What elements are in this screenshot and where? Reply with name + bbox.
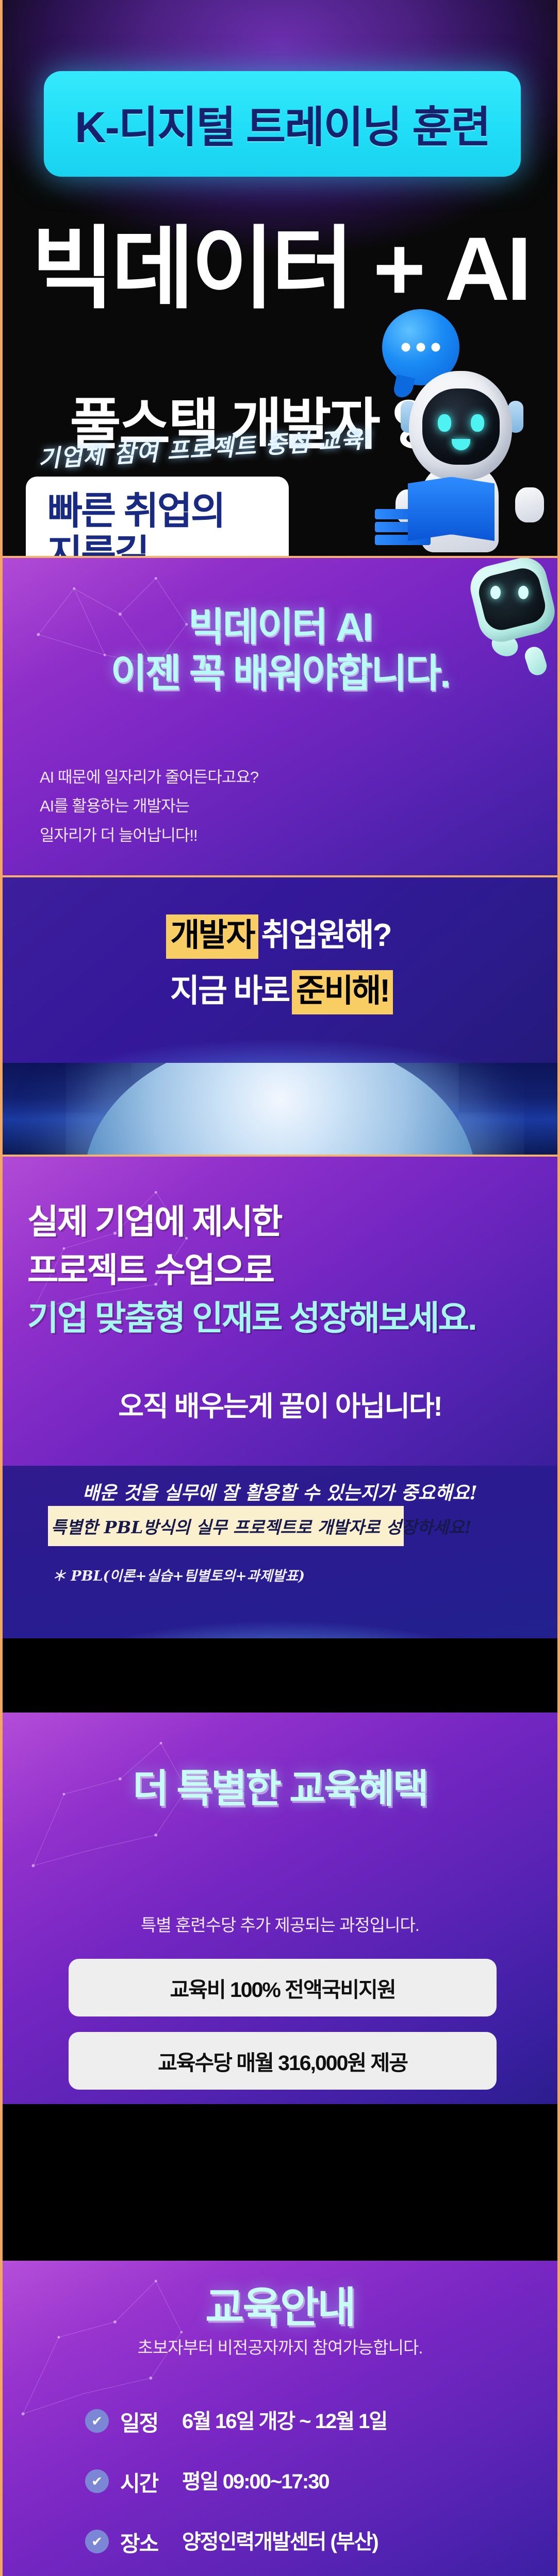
education-row: ✔ 일정 6월 16일 개강 ~ 12월 1일 xyxy=(85,2406,539,2437)
education-row: ✔ 시간 평일 09:00~17:30 xyxy=(85,2466,539,2498)
cta-text-employment: 취업원해? xyxy=(258,914,394,959)
robot-arm-right xyxy=(515,487,544,522)
cta-text-block: 개발자취업원해? 지금 바로준비해! xyxy=(3,914,557,1014)
cta-highlight-prepare: 준비해! xyxy=(292,970,393,1014)
hero-section: K-디지털 트레이닝 훈련 빅데이터 + AI 풀스택 개발자 양성 기업체 참… xyxy=(3,0,557,558)
robot-mouth xyxy=(452,439,470,450)
pbl-footnote: ＊ PBL(이론+실습+팀별토의+과제발표) xyxy=(52,1565,305,1585)
ai-paragraph-line2: AI를 활용하는 개발자는 xyxy=(40,792,258,821)
robot-head xyxy=(409,371,512,480)
check-circle-icon: ✔ xyxy=(85,2530,109,2553)
cta-line-2: 지금 바로준비해! xyxy=(3,970,557,1014)
fast-employment-line2: 지름길 xyxy=(47,533,289,558)
project-subheading: 오직 배우는게 끝이 아닙니다! xyxy=(3,1383,557,1424)
fast-employment-line1: 빠른 취업의 xyxy=(47,490,289,533)
project-heading-line2: 프로젝트 수업으로 xyxy=(27,1246,475,1295)
benefits-subheading: 특별 훈련수당 추가 제공되는 과정입니다. xyxy=(3,1911,557,1936)
education-info-section: 교육안내 초보자부터 비전공자까지 참여가능합니다. ✔ 일정 6월 16일 개… xyxy=(3,2261,557,2576)
promo-page: K-디지털 트레이닝 훈련 빅데이터 + AI 풀스택 개발자 양성 기업체 참… xyxy=(0,0,560,2576)
project-section: 실제 기업에 제시한 프로젝트 수업으로 기업 맞춤형 인재로 성장해보세요. … xyxy=(3,1157,557,1466)
ai-paragraph-line1: AI 때문에 일자리가 줄어든다고요? xyxy=(40,763,258,792)
ellipsis-dots-icon xyxy=(402,343,440,352)
project-heading: 실제 기업에 제시한 프로젝트 수업으로 기업 맞춤형 인재로 성장해보세요. xyxy=(27,1198,475,1343)
education-row-label: 일정 xyxy=(120,2406,182,2437)
robot-reading-illustration xyxy=(372,309,542,551)
earth-divider-1 xyxy=(3,1063,557,1157)
cta-line-1: 개발자취업원해? xyxy=(3,914,557,959)
benefit-label: 교육수당 매월 316,000원 제공 xyxy=(158,2045,407,2076)
benefit-item: 교육수당 매월 316,000원 제공 xyxy=(69,2032,497,2090)
project-heading-line3: 기업 맞춤형 인재로 성장해보세요. xyxy=(27,1294,475,1343)
fast-employment-card: 빠른 취업의 지름길 xyxy=(26,477,289,558)
robot-eye-right xyxy=(471,414,484,432)
ai-message-section: 빅데이터 AI 이젠 꼭 배워야합니다. AI 때문에 일자리가 줄어든다고요?… xyxy=(3,558,557,877)
robot-eye-left xyxy=(438,414,451,432)
ai-paragraph-line3: 일자리가 더 늘어납니다!! xyxy=(40,821,258,850)
education-row-label: 시간 xyxy=(120,2466,182,2498)
k-digital-badge: K-디지털 트레이닝 훈련 xyxy=(44,71,521,177)
pbl-box-text: 특별한 PBL방식의 실무 프로젝트로 개발자로 성장하세요! xyxy=(48,1514,472,1538)
education-row-value: 평일 09:00~17:30 xyxy=(182,2466,329,2497)
cta-highlight-developer: 개발자 xyxy=(166,914,258,959)
education-row-value: 6월 16일 개강 ~ 12월 1일 xyxy=(182,2406,387,2437)
check-circle-icon: ✔ xyxy=(85,2469,109,2493)
benefit-item: 교육비 100% 전액국비지원 xyxy=(69,1959,497,2016)
k-digital-badge-label: K-디지털 트레이닝 훈련 xyxy=(75,93,490,155)
open-book-icon xyxy=(408,477,495,541)
education-subheading: 초보자부터 비전공자까지 참여가능합니다. xyxy=(3,2334,557,2359)
pbl-highlight-box: 특별한 PBL방식의 실무 프로젝트로 개발자로 성장하세요! xyxy=(48,1506,404,1546)
robot-mint-eye-left xyxy=(490,586,501,599)
education-row-label: 장소 xyxy=(120,2527,182,2558)
robot-mint-eye-right xyxy=(518,586,529,599)
benefits-section: 더 특별한 교육혜택 특별 훈련수당 추가 제공되는 과정입니다. 교육비 10… xyxy=(3,1713,557,2104)
hero-title: 빅데이터 + AI xyxy=(3,227,557,312)
ai-paragraph: AI 때문에 일자리가 줄어든다고요? AI를 활용하는 개발자는 일자리가 더… xyxy=(40,763,258,850)
cta-section: 개발자취업원해? 지금 바로준비해! xyxy=(3,877,557,1063)
pbl-section: 배운 것을 실무에 잘 활용할 수 있는지가 중요해요! 특별한 PBL방식의 … xyxy=(3,1466,557,1638)
education-rows: ✔ 일정 6월 16일 개강 ~ 12월 1일 ✔ 시간 평일 09:00~17… xyxy=(85,2406,539,2576)
benefits-list: 교육비 100% 전액국비지원 교육수당 매월 316,000원 제공 협약기업… xyxy=(69,1959,497,2104)
robot-mint-illustration xyxy=(446,558,554,685)
benefit-label: 교육비 100% 전액국비지원 xyxy=(170,1972,395,2003)
robot-mint-hand xyxy=(522,645,549,677)
robot-face xyxy=(422,388,500,465)
education-row: ✔ 장소 양정인력개발센터 (부산) xyxy=(85,2527,539,2558)
pbl-note-top: 배운 것을 실무에 잘 활용할 수 있는지가 중요해요! xyxy=(3,1478,557,1505)
benefits-heading: 더 특별한 교육혜택 xyxy=(3,1757,557,1814)
education-row-value: 양정인력개발센터 (부산) xyxy=(182,2527,378,2557)
project-heading-line1: 실제 기업에 제시한 xyxy=(27,1198,475,1246)
education-heading: 교육안내 xyxy=(3,2273,557,2334)
check-circle-icon: ✔ xyxy=(85,2409,109,2433)
cta-text-rightnow: 지금 바로 xyxy=(167,970,292,1014)
